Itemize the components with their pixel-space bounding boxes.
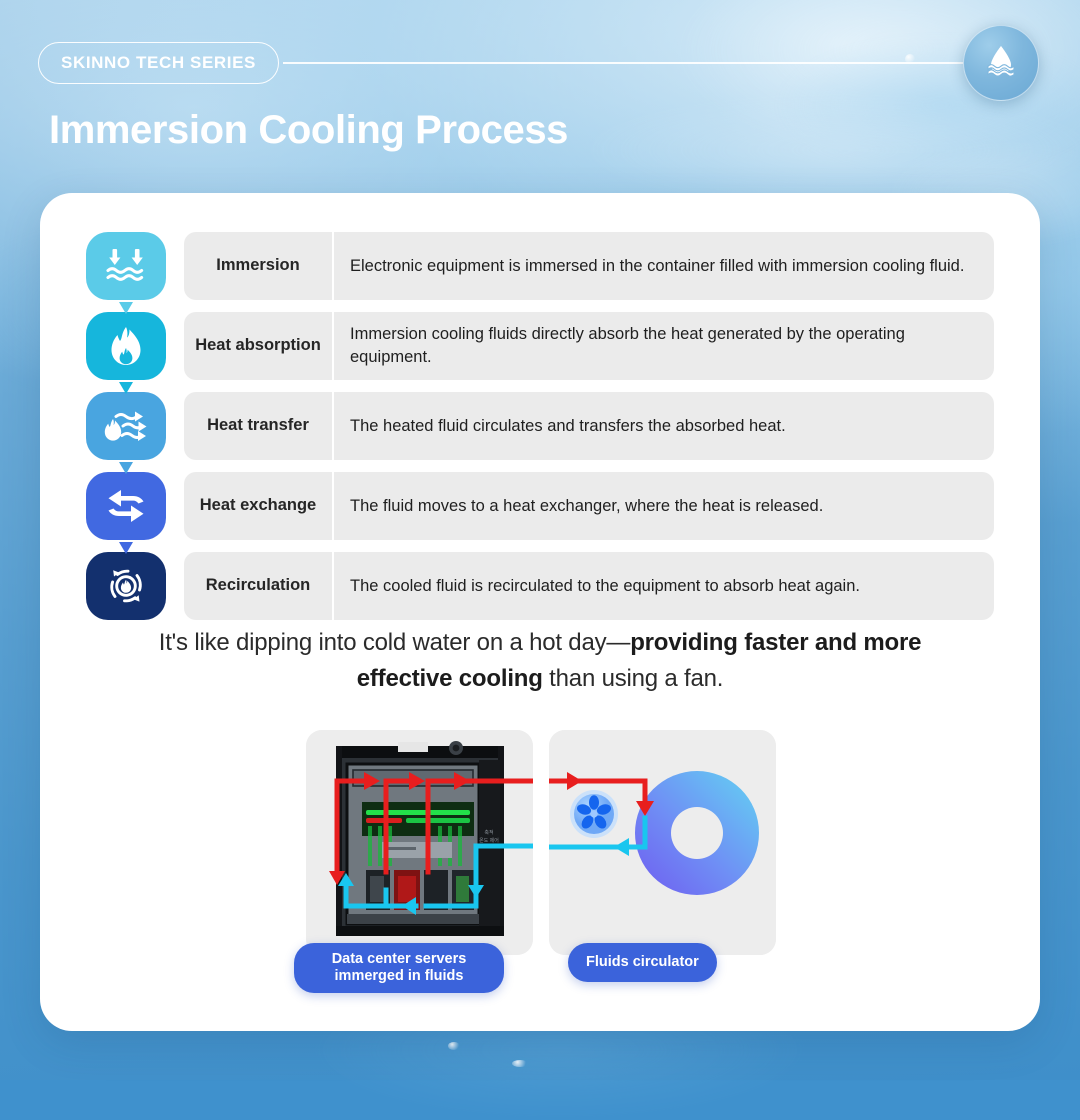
svg-text:온도 제어: 온도 제어 bbox=[479, 837, 499, 844]
step-connector-arrow bbox=[119, 461, 133, 473]
step-icon-heat-absorption bbox=[86, 312, 166, 380]
summary-part-2: than using a fan. bbox=[543, 665, 724, 692]
flame-with-flow-arrows-icon bbox=[102, 406, 150, 446]
step-description: The cooled fluid is recirculated to the … bbox=[334, 552, 994, 620]
water-droplet-waves-icon bbox=[979, 39, 1023, 88]
step-label: Recirculation bbox=[184, 552, 332, 620]
figure-row: 축적 온도 제어 bbox=[306, 730, 776, 955]
figure-fluids-circulator bbox=[549, 730, 776, 955]
brand-logo-badge bbox=[963, 25, 1039, 101]
water-droplet bbox=[448, 1042, 460, 1050]
svg-text:축적: 축적 bbox=[484, 829, 493, 836]
step-connector-arrow bbox=[119, 381, 133, 393]
figure-caption: Fluids circulator bbox=[568, 943, 717, 982]
step-icon-recirculation bbox=[86, 552, 166, 620]
process-step: Immersion Electronic equipment is immers… bbox=[86, 232, 994, 300]
step-icon-heat-exchange bbox=[86, 472, 166, 540]
recirculation-flame-icon bbox=[104, 565, 148, 607]
figure-server-rack: 축적 온도 제어 bbox=[306, 730, 533, 955]
exchange-arrows-icon bbox=[103, 486, 149, 526]
series-kicker-label: SKINNO TECH SERIES bbox=[61, 53, 256, 73]
process-step: Heat absorption Immersion cooling fluids… bbox=[86, 312, 994, 380]
content-card: Immersion Electronic equipment is immers… bbox=[40, 193, 1040, 1031]
process-step: Heat transfer The heated fluid circulate… bbox=[86, 392, 994, 460]
step-label: Immersion bbox=[184, 232, 332, 300]
step-label: Heat absorption bbox=[184, 312, 332, 380]
step-connector-arrow bbox=[119, 301, 133, 313]
step-description: Electronic equipment is immersed in the … bbox=[334, 232, 994, 300]
figure-caption: Data center servers immerged in fluids bbox=[294, 943, 504, 993]
step-label: Heat transfer bbox=[184, 392, 332, 460]
step-description: The fluid moves to a heat exchanger, whe… bbox=[334, 472, 994, 540]
step-connector-arrow bbox=[119, 541, 133, 553]
process-step-list: Immersion Electronic equipment is immers… bbox=[86, 232, 994, 620]
flame-icon bbox=[108, 325, 144, 367]
header-divider-line bbox=[283, 62, 983, 64]
figure-group: 축적 온도 제어 bbox=[306, 730, 776, 991]
step-label: Heat exchange bbox=[184, 472, 332, 540]
water-droplet bbox=[512, 1060, 528, 1067]
process-step: Recirculation The cooled fluid is recirc… bbox=[86, 552, 994, 620]
page-title: Immersion Cooling Process bbox=[49, 108, 568, 153]
figure-captions: Data center servers immerged in fluids F… bbox=[306, 943, 776, 991]
arrows-into-water-icon bbox=[103, 246, 149, 286]
summary-part-1: It's like dipping into cold water on a h… bbox=[159, 629, 630, 656]
step-icon-heat-transfer bbox=[86, 392, 166, 460]
step-description: Immersion cooling fluids directly absorb… bbox=[334, 312, 994, 380]
step-description: The heated fluid circulates and transfer… bbox=[334, 392, 994, 460]
step-icon-immersion bbox=[86, 232, 166, 300]
series-kicker-badge: SKINNO TECH SERIES bbox=[38, 42, 279, 84]
summary-text: It's like dipping into cold water on a h… bbox=[120, 625, 960, 697]
process-step: Heat exchange The fluid moves to a heat … bbox=[86, 472, 994, 540]
